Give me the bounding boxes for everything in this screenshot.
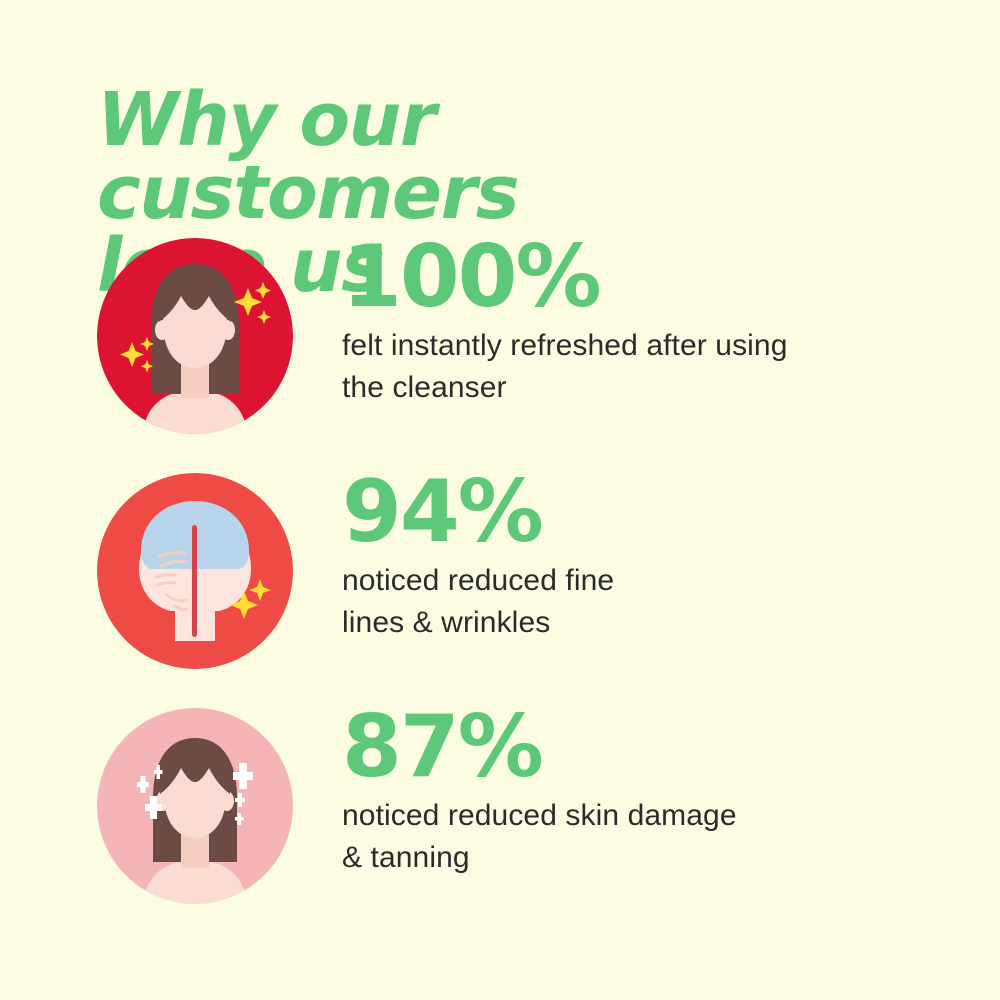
stat-text-block: 94% noticed reduced fine lines & wrinkle…: [342, 463, 962, 643]
stats-list: 100% felt instantly refreshed after usin…: [0, 228, 1000, 933]
stat-item: 87% noticed reduced skin damage & tannin…: [0, 698, 1000, 933]
stat-description: noticed reduced skin damage & tanning: [342, 787, 962, 878]
stat-text-block: 87% noticed reduced skin damage & tannin…: [342, 698, 962, 878]
promo-stats-panel: Why our customers love us: [0, 0, 1000, 1000]
woman-face-sparkles-icon: [97, 238, 293, 434]
wrinkle-comparison-face-icon: [97, 473, 293, 669]
woman-face-glow-icon: [97, 708, 293, 904]
stat-value: 87%: [342, 698, 962, 787]
stat-value: 100%: [342, 228, 962, 317]
stat-text-block: 100% felt instantly refreshed after usin…: [342, 228, 962, 408]
stat-description: felt instantly refreshed after using the…: [342, 317, 962, 408]
stat-item: 94% noticed reduced fine lines & wrinkle…: [0, 463, 1000, 698]
stat-item: 100% felt instantly refreshed after usin…: [0, 228, 1000, 463]
stat-description: noticed reduced fine lines & wrinkles: [342, 552, 962, 643]
stat-value: 94%: [342, 463, 962, 552]
